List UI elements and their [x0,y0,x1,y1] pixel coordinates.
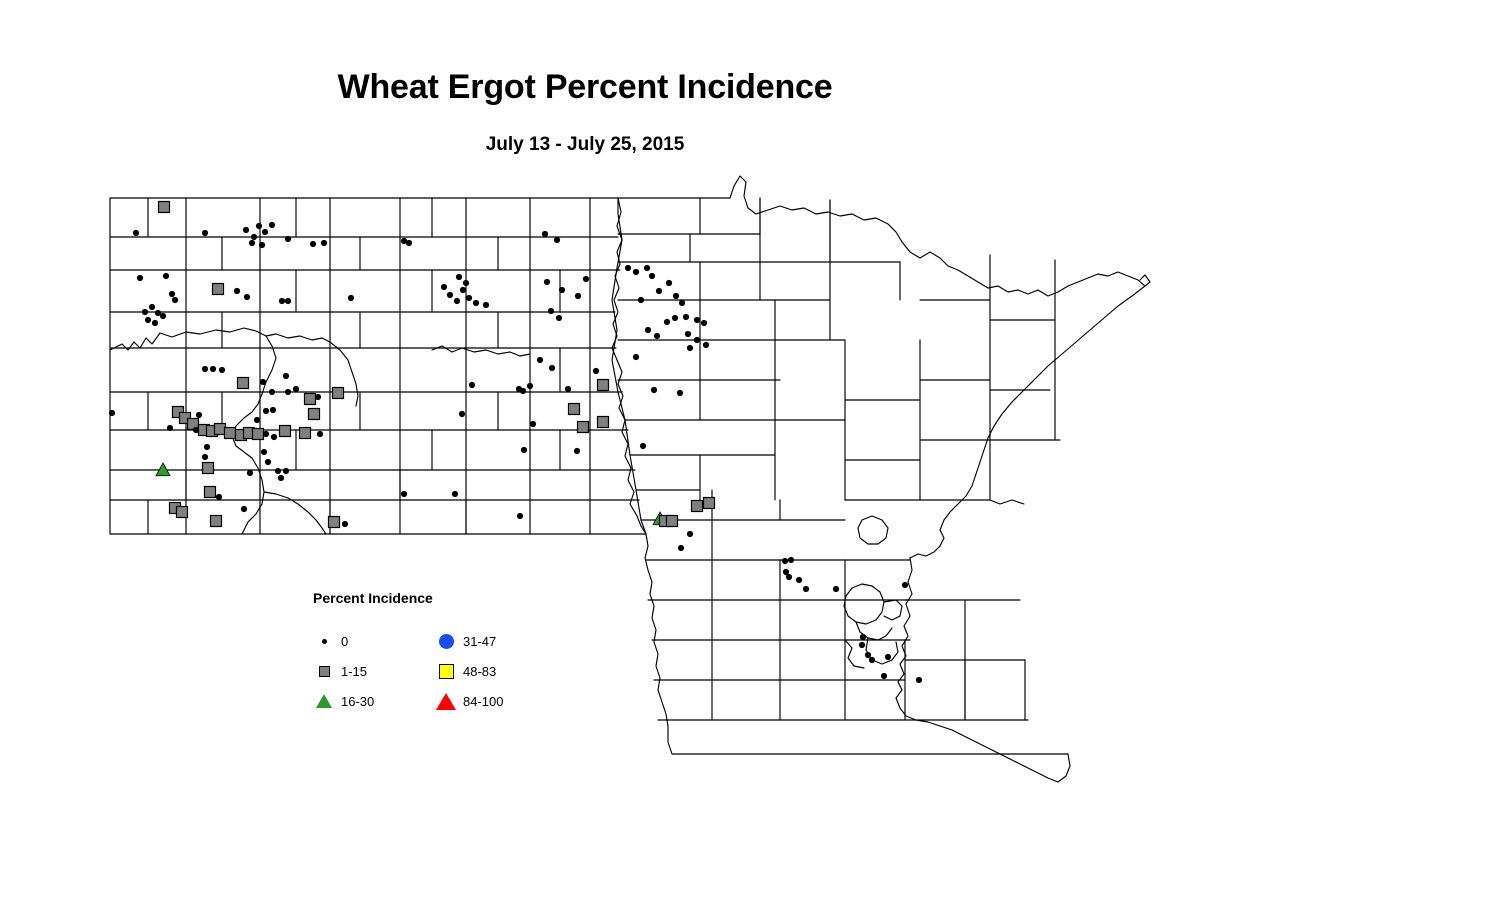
data-point [269,389,275,395]
data-point [133,230,139,236]
data-point [241,506,247,512]
legend-item-84-100[interactable]: 84-100 [433,686,503,716]
data-point [167,425,173,431]
data-point [441,284,447,290]
data-point [687,531,693,537]
data-point [667,516,678,527]
wheat-ergot-incidence-map: Wheat Ergot Percent Incidence July 13 - … [0,0,1503,900]
data-point [285,389,291,395]
data-point [159,202,170,213]
data-point [280,426,291,437]
data-point [678,545,684,551]
data-point [109,410,115,416]
data-point [300,428,311,439]
data-point [211,516,222,527]
data-point [333,388,344,399]
data-point [329,517,340,528]
data-point [202,454,208,460]
green-triangle-icon [311,694,337,708]
data-point [348,295,354,301]
data-point [256,223,262,229]
data-point [270,407,276,413]
data-point [293,386,299,392]
legend-column-right: 31-47 48-83 84-100 [433,626,503,716]
data-point [654,333,660,339]
data-point [544,279,550,285]
legend-label-48-83: 48-83 [463,664,496,679]
legend-item-0[interactable]: 0 [311,626,374,656]
data-point [483,302,489,308]
data-point [205,487,216,498]
data-point [278,475,284,481]
data-point [310,241,316,247]
legend-label-84-100: 84-100 [463,694,503,709]
data-point [447,292,453,298]
data-point [254,417,260,423]
red-triangle-icon [433,693,459,710]
data-point [666,280,672,286]
data-point [527,383,533,389]
data-point [565,386,571,392]
data-point [569,404,580,415]
data-point [251,234,257,240]
data-point [406,240,412,246]
data-point [260,379,266,385]
data-point [459,411,465,417]
data-point [796,577,802,583]
data-point [263,408,269,414]
data-point [202,366,208,372]
data-point [259,242,265,248]
data-point [283,468,289,474]
data-point [683,314,689,320]
data-point [694,317,700,323]
gray-square-icon [311,666,337,677]
map-svg [0,0,1503,900]
data-point [692,501,703,512]
data-point [644,265,650,271]
legend-label-0: 0 [341,634,348,649]
data-point [575,293,581,299]
data-point [204,444,210,450]
data-point [554,237,560,243]
data-point [156,463,170,476]
data-point [342,521,348,527]
data-point [247,470,253,476]
legend-label-31-47: 31-47 [463,634,496,649]
data-point [149,304,155,310]
data-point [271,434,277,440]
data-point [215,424,226,435]
data-point [160,313,166,319]
data-point [262,229,268,235]
data-point [803,586,809,592]
data-point [152,320,158,326]
data-point [598,417,609,428]
data-point [317,431,323,437]
data-point [253,429,264,440]
data-point [213,284,224,295]
data-point [279,298,285,304]
data-point [704,498,715,509]
data-point [860,634,866,640]
data-point [177,507,188,518]
data-point [283,373,289,379]
data-point [269,222,275,228]
data-point [694,337,700,343]
data-point [238,378,249,389]
data-point [672,315,678,321]
data-point [638,297,644,303]
legend-item-48-83[interactable]: 48-83 [433,656,503,686]
data-point [916,677,922,683]
data-point [463,280,469,286]
data-point [216,494,222,500]
data-point [516,386,522,392]
data-point [275,468,281,474]
data-point [649,273,655,279]
data-point [261,449,267,455]
data-point [651,387,657,393]
data-point [225,428,236,439]
data-point [782,558,788,564]
data-point [542,231,548,237]
data-point [578,422,589,433]
data-point [142,309,148,315]
legend-label-16-30: 16-30 [341,694,374,709]
data-point [902,582,908,588]
data-point [210,366,216,372]
yellow-square-icon [433,664,459,679]
data-point [137,275,143,281]
data-point [677,390,683,396]
data-point [703,342,709,348]
data-point [243,227,249,233]
data-point [833,586,839,592]
data-point [460,287,466,293]
data-point [548,308,554,314]
data-point [556,315,562,321]
data-point [219,367,225,373]
legend-item-1-15[interactable]: 1-15 [311,656,374,686]
data-point [469,382,475,388]
data-point [865,652,871,658]
data-point [574,448,580,454]
data-point [321,240,327,246]
data-point [202,230,208,236]
data-point [234,288,240,294]
data-point [679,300,685,306]
data-point [593,368,599,374]
data-point [537,357,543,363]
data-point [285,236,291,242]
data-point [263,431,269,437]
data-point [521,447,527,453]
data-point [196,412,202,418]
data-point [625,265,631,271]
data-point [473,300,479,306]
data-point [788,557,794,563]
legend-label-1-15: 1-15 [341,664,367,679]
data-point [285,298,291,304]
data-point [640,443,646,449]
data-point [656,288,662,294]
data-point [172,297,178,303]
data-point [869,657,875,663]
data-point [249,240,255,246]
data-point [517,513,523,519]
data-point [859,642,865,648]
data-point [530,421,536,427]
data-point [786,574,792,580]
data-point [265,459,271,465]
data-point [583,276,589,282]
data-point [163,273,169,279]
data-point [701,320,707,326]
data-point [244,294,250,300]
data-point [145,317,151,323]
data-point [549,365,555,371]
data-point [203,463,214,474]
data-point [885,654,891,660]
data-point [685,331,691,337]
legend-item-16-30[interactable]: 16-30 [311,686,374,716]
data-point [305,394,316,405]
data-point [454,298,460,304]
map-legend: Percent Incidence 0 1-15 16-30 31-47 [311,590,541,715]
black-dot-icon [311,639,337,644]
data-point [315,394,321,400]
data-point [598,380,609,391]
legend-column-left: 0 1-15 16-30 [311,626,374,716]
data-point [452,491,458,497]
data-point [633,354,639,360]
data-point [456,274,462,280]
legend-item-31-47[interactable]: 31-47 [433,626,503,656]
data-point [664,319,670,325]
data-point [633,269,639,275]
data-point [309,409,320,420]
data-point [673,293,679,299]
data-point [466,295,472,301]
data-point [169,291,175,297]
data-point [559,287,565,293]
blue-circle-icon [433,634,459,649]
legend-title: Percent Incidence [313,590,541,606]
data-point [645,327,651,333]
data-point [401,491,407,497]
data-point [881,673,887,679]
data-point [687,345,693,351]
